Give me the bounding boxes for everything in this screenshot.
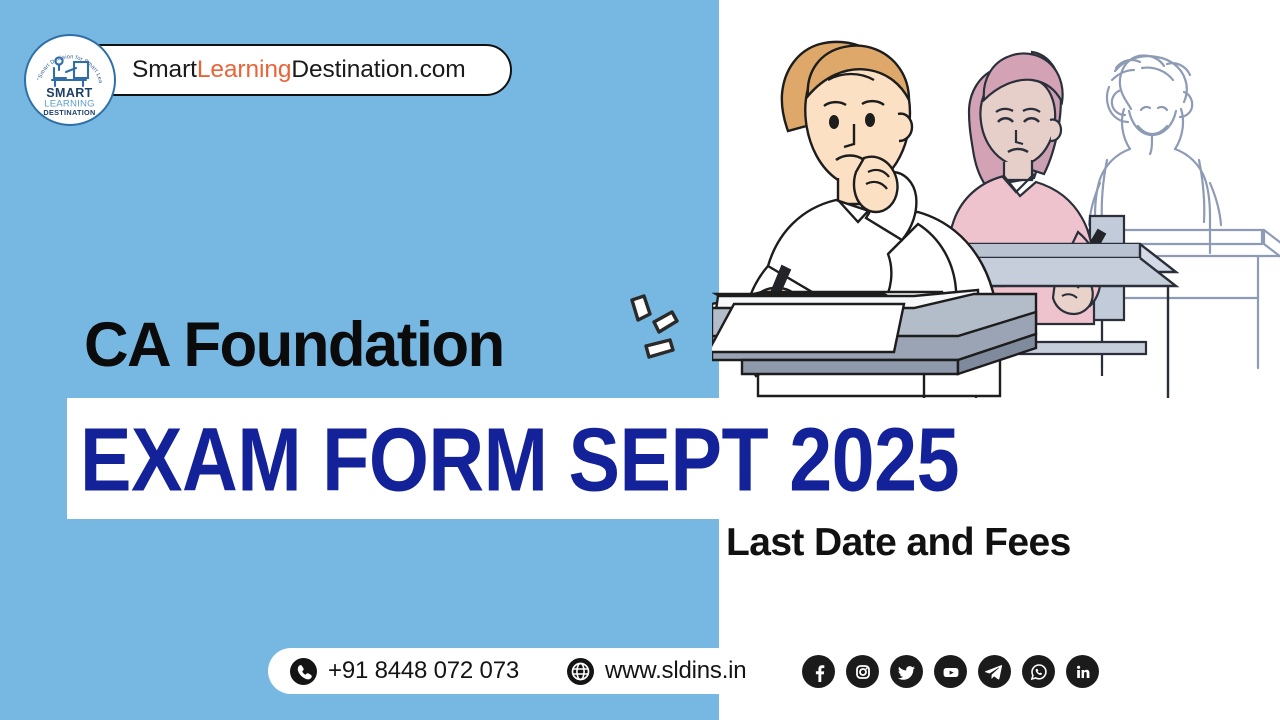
phone-icon: [290, 658, 317, 685]
phone-contact[interactable]: +91 8448 072 073: [290, 657, 519, 685]
pretitle-ca-foundation: CA Foundation: [84, 314, 504, 377]
facebook-icon[interactable]: [802, 655, 835, 688]
instagram-icon[interactable]: [846, 655, 879, 688]
whatsapp-icon[interactable]: [1022, 655, 1055, 688]
url-accent: Learning: [197, 56, 292, 83]
website-url-pill[interactable]: SmartLearningDestination.com: [72, 44, 512, 96]
poster-canvas: SmartLearningDestination.com "Smart Deci…: [0, 0, 1280, 720]
website-contact[interactable]: www.sldins.in: [567, 657, 746, 685]
telegram-icon[interactable]: [978, 655, 1011, 688]
svg-text:DESTINATION: DESTINATION: [43, 108, 95, 117]
subtitle: Last Date and Fees: [726, 521, 1071, 565]
twitter-icon[interactable]: [890, 655, 923, 688]
students-taking-exam-illustration: [712, 8, 1280, 408]
main-headline: EXAM FORM SEPT 2025: [80, 415, 959, 505]
contact-bar: +91 8448 072 073 www.sldins.in: [268, 648, 788, 694]
social-links: [802, 655, 1099, 688]
globe-icon: [567, 658, 594, 685]
linkedin-icon[interactable]: [1066, 655, 1099, 688]
url-prefix: Smart: [132, 56, 197, 83]
smart-learning-destination-logo[interactable]: "Smart Decision for Smart Learning" SMAR…: [24, 34, 116, 126]
phone-number: +91 8448 072 073: [328, 657, 519, 685]
website-address: www.sldins.in: [605, 657, 746, 685]
youtube-icon[interactable]: [934, 655, 967, 688]
url-suffix: Destination.com: [291, 56, 465, 83]
website-url-text: SmartLearningDestination.com: [132, 56, 466, 84]
sparkle-marks-icon: [618, 292, 698, 364]
